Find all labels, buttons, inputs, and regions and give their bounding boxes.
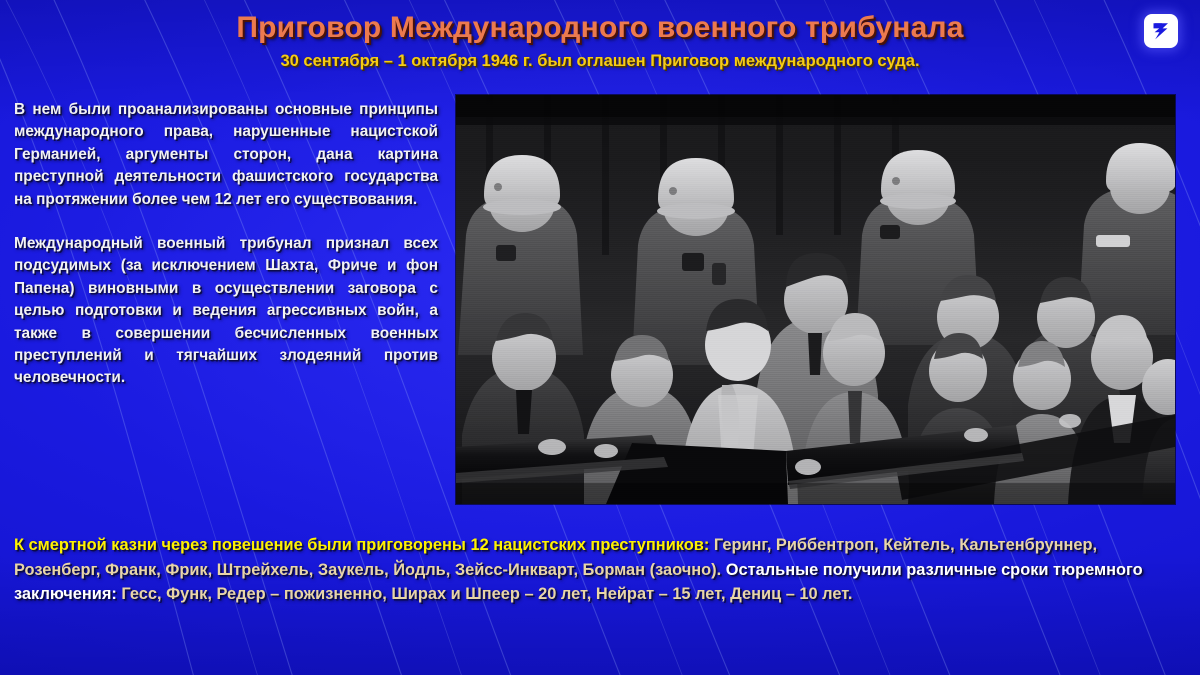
slide-caption: К смертной казни через повешение были пр… <box>14 533 1184 606</box>
page-subtitle: 30 сентября – 1 октября 1946 г. был огла… <box>0 45 1200 71</box>
presentation-slide: Приговор Международного военного трибуна… <box>0 0 1200 675</box>
slide-header: Приговор Международного военного трибуна… <box>0 0 1200 92</box>
page-title: Приговор Международного военного трибуна… <box>0 0 1200 45</box>
caption-names-2: Гесс, Функ, Редер – пожизненно, Ширах и … <box>117 585 853 603</box>
z-lightning-icon <box>1149 19 1173 43</box>
caption-lead-1: К смертной казни через повешение были пр… <box>14 536 709 554</box>
body-text-column: В нем были проанализированы основные при… <box>14 99 438 390</box>
brand-logo-badge[interactable] <box>1144 14 1178 48</box>
paragraph-1: В нем были проанализированы основные при… <box>14 99 438 211</box>
paragraph-2: Международный военный трибунал признал в… <box>14 233 438 390</box>
nuremberg-defendants-dock-photo <box>456 95 1175 504</box>
